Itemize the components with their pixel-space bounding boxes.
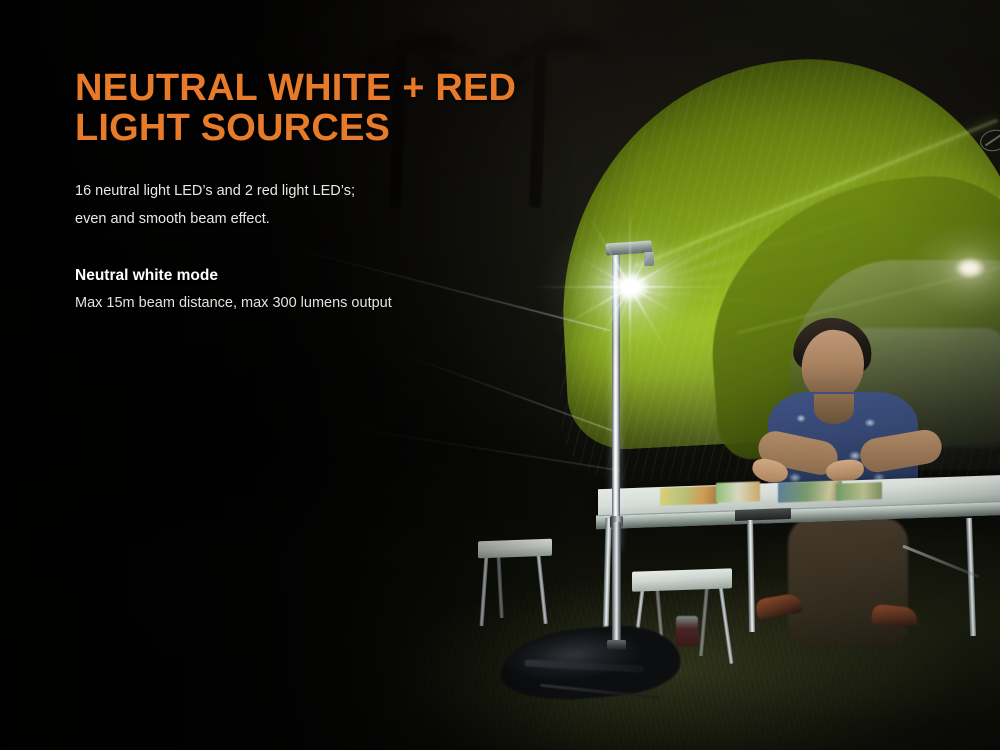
feature-copy-block: NEUTRAL WHITE + RED LIGHT SOURCES 16 neu… [75,68,635,311]
product-feature-slide: NEUTRAL WHITE + RED LIGHT SOURCES 16 neu… [0,0,1000,750]
backpack-strap [524,659,644,672]
folding-stool-left [478,540,562,626]
printed-sheet [716,481,760,503]
feature-line-1: 16 neutral light LED’s and 2 red light L… [75,183,355,199]
printed-sheet [778,480,842,502]
feature-line-2: even and smooth beam effect. [75,211,270,227]
pole-lower-section [612,522,621,648]
stool-seat [478,539,552,559]
stool-seat [632,568,732,591]
printed-sheet [660,486,718,506]
feature-description: 16 neutral light LED’s and 2 red light L… [75,149,635,234]
stool-leg [536,554,547,624]
folding-table-hinge [735,508,791,521]
stool-leg [496,552,503,618]
person-collar [814,394,854,424]
stool-leg [699,584,709,656]
stool-leg [479,554,488,626]
stool-leg [719,586,734,664]
mode-description: Max 15m beam distance, max 300 lumens ou… [75,285,635,311]
printed-sheet [836,482,882,501]
page-title: NEUTRAL WHITE + RED LIGHT SOURCES [75,68,635,149]
tent-lamp-core [954,257,986,279]
mode-title: Neutral white mode [75,233,635,285]
pole-base-foot [607,640,626,650]
